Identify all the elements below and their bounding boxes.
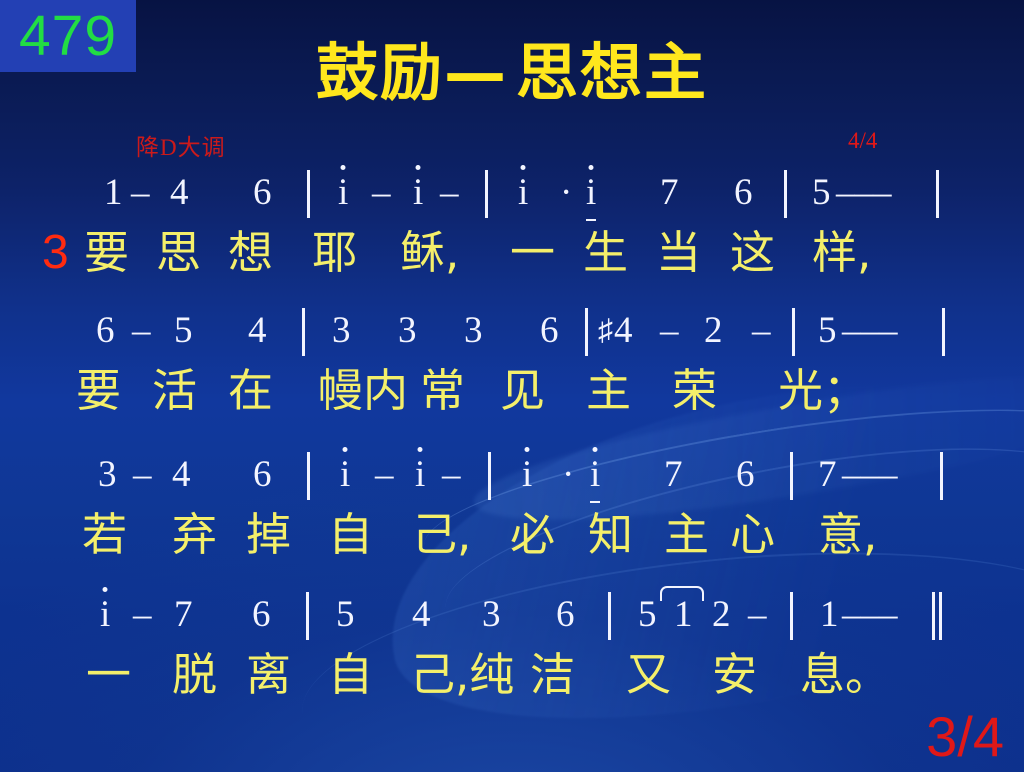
lyric-word: 又 xyxy=(626,642,671,708)
barline xyxy=(608,592,611,640)
lyric-word: 幔内 xyxy=(318,358,408,424)
lyric-word: 己,纯 xyxy=(410,642,514,708)
title-part-2: 思想主 xyxy=(516,36,708,109)
key-signature: 降D大调 xyxy=(136,128,226,162)
lyric-word: 想 xyxy=(228,220,273,286)
lyric-word: 主 xyxy=(586,358,631,424)
lyric-word: 意, xyxy=(818,502,877,568)
barline xyxy=(307,170,310,218)
lyric-word: 生 xyxy=(583,220,628,286)
verse-number: 3 xyxy=(42,220,69,286)
note-dash: – xyxy=(132,306,151,356)
title-part-1: 鼓励 xyxy=(316,36,444,109)
barline xyxy=(784,170,787,218)
lyric-word: 要 xyxy=(84,220,129,286)
barline xyxy=(790,592,793,640)
lyric-word: 心 xyxy=(730,502,775,568)
lyric-word: 己, xyxy=(412,502,471,568)
note-high-octave: i xyxy=(415,450,425,500)
note: 4 xyxy=(172,450,191,500)
lyric-word: 常 xyxy=(420,358,465,424)
note-dash-group: ––– xyxy=(842,306,898,356)
note: 6 xyxy=(540,306,559,356)
note-dash: – xyxy=(752,306,771,356)
note: 5 xyxy=(174,306,193,356)
barline xyxy=(585,308,588,356)
lyric-word: 自 xyxy=(328,642,373,708)
note-dash-group: ––– xyxy=(842,590,898,640)
lyrics-row-4: 一 脱 离 自 己,纯 洁 又 安 息。 xyxy=(0,642,1024,712)
note-dash: – xyxy=(133,590,152,640)
note-dash-group: ––– xyxy=(836,168,892,218)
barline xyxy=(302,308,305,356)
note: 3 xyxy=(98,450,117,500)
note: 5 xyxy=(818,306,837,356)
note: 6 xyxy=(252,590,271,640)
note-dash: – xyxy=(372,168,391,218)
page-title: 鼓励—思想主 xyxy=(0,42,1024,104)
barline xyxy=(942,308,945,356)
note-high-octave: i xyxy=(338,168,348,218)
note: 7 xyxy=(660,168,679,218)
note: 6 xyxy=(96,306,115,356)
note-high-octave-eighth: i xyxy=(590,450,600,503)
note-dash: – xyxy=(660,306,679,356)
note: 5 xyxy=(812,168,831,218)
lyric-word: 见 xyxy=(500,358,545,424)
lyric-word: 一 xyxy=(510,220,555,286)
note: 5 xyxy=(336,590,355,640)
note: 6 xyxy=(734,168,753,218)
lyric-word: 必 xyxy=(510,502,555,568)
music-system-4: i – 7 6 5 4 3 6 5 1 2 – 1 ––– 一 脱 离 自 己,… xyxy=(0,590,1024,712)
note: 1 xyxy=(674,590,693,640)
barline xyxy=(488,452,491,500)
note-dash: – xyxy=(375,450,394,500)
note-dash: – xyxy=(442,450,461,500)
note: 7 xyxy=(174,590,193,640)
note-high-octave: i xyxy=(522,450,532,500)
notation-row-1: 1 – 4 6 i – i – i · i 7 6 5 ––– xyxy=(0,168,1024,220)
note: 3 xyxy=(398,306,417,356)
lyric-word: 主 xyxy=(664,502,709,568)
music-system-3: 3 – 4 6 i – i – i · i 7 6 7 ––– 若 弃 掉 自 … xyxy=(0,450,1024,572)
note: 6 xyxy=(253,168,272,218)
lyric-word: 离 xyxy=(246,642,291,708)
note: 2 xyxy=(704,306,723,356)
barline xyxy=(936,170,939,218)
time-signature: 4/4 xyxy=(848,128,877,154)
note: 7 xyxy=(818,450,837,500)
lyric-word: 当 xyxy=(656,220,701,286)
notation-row-3: 3 – 4 6 i – i – i · i 7 6 7 ––– xyxy=(0,450,1024,502)
sharp-accidental: ♯ xyxy=(598,306,613,356)
note-high-octave: i xyxy=(340,450,350,500)
final-barline xyxy=(932,592,935,640)
barline xyxy=(792,308,795,356)
lyric-word: 光； xyxy=(778,358,868,424)
barline xyxy=(306,592,309,640)
lyric-word: 若 xyxy=(82,502,127,568)
note: 3 xyxy=(482,590,501,640)
lyrics-row-3: 若 弃 掉 自 己, 必 知 主 心 意, xyxy=(0,502,1024,572)
barline xyxy=(485,170,488,218)
lyric-word: 弃 xyxy=(172,502,217,568)
lyric-word: 脱 xyxy=(172,642,217,708)
lyrics-row-1: 3 要 思 想 耶 稣, 一 生 当 这 样, xyxy=(0,220,1024,290)
lyric-word: 思 xyxy=(156,220,201,286)
note: 7 xyxy=(664,450,683,500)
note-dash: – xyxy=(440,168,459,218)
augmentation-dot: · xyxy=(560,168,572,218)
note: 6 xyxy=(253,450,272,500)
note: 3 xyxy=(464,306,483,356)
barline xyxy=(790,452,793,500)
lyric-word: 自 xyxy=(328,502,373,568)
note: 4 xyxy=(170,168,189,218)
lyric-word: 样, xyxy=(812,220,871,286)
lyric-word: 这 xyxy=(730,220,775,286)
lyric-word: 稣, xyxy=(400,220,459,286)
lyric-word: 息。 xyxy=(800,642,890,708)
lyrics-row-2: 要 活 在 幔内 常 见 主 荣 光； xyxy=(0,358,1024,428)
lyric-word: 在 xyxy=(228,358,273,424)
barline xyxy=(307,452,310,500)
augmentation-dot: · xyxy=(562,450,574,500)
lyric-word: 耶 xyxy=(312,220,357,286)
note-high-octave: i xyxy=(518,168,528,218)
note-dash: – xyxy=(133,450,152,500)
lyric-word: 安 xyxy=(712,642,757,708)
note: 4 xyxy=(412,590,431,640)
note: 6 xyxy=(736,450,755,500)
lyric-word: 一 xyxy=(86,642,131,708)
note: 1 xyxy=(104,168,123,218)
lyric-word: 活 xyxy=(152,358,197,424)
note: 5 xyxy=(638,590,657,640)
lyric-word: 荣 xyxy=(672,358,717,424)
barline xyxy=(940,452,943,500)
lyric-word: 要 xyxy=(76,358,121,424)
note: 4 xyxy=(614,306,633,356)
title-dash: — xyxy=(444,36,516,109)
hymn-slide: 479 鼓励—思想主 降D大调 4/4 1 – 4 6 i – i – i · … xyxy=(0,0,1024,772)
note-high-octave: i xyxy=(413,168,423,218)
note: 6 xyxy=(556,590,575,640)
note-dash: – xyxy=(131,168,150,218)
note: 4 xyxy=(248,306,267,356)
lyric-word: 洁 xyxy=(530,642,575,708)
lyric-word: 掉 xyxy=(246,502,291,568)
notation-row-2: 6 – 5 4 3 3 3 6 ♯ 4 – 2 – 5 ––– xyxy=(0,306,1024,358)
note-high-octave: i xyxy=(100,590,110,640)
note-high-octave-eighth: i xyxy=(586,168,596,221)
note: 3 xyxy=(332,306,351,356)
note-dash: – xyxy=(748,590,767,640)
lyric-word: 知 xyxy=(588,502,633,568)
music-system-2: 6 – 5 4 3 3 3 6 ♯ 4 – 2 – 5 ––– 要 活 在 幔内… xyxy=(0,306,1024,428)
music-system-1: 1 – 4 6 i – i – i · i 7 6 5 ––– 3 要 思 想 … xyxy=(0,168,1024,290)
note: 2 xyxy=(712,590,731,640)
note: 1 xyxy=(820,590,839,640)
page-number: 3/4 xyxy=(926,706,1004,768)
notation-row-4: i – 7 6 5 4 3 6 5 1 2 – 1 ––– xyxy=(0,590,1024,642)
note-dash-group: ––– xyxy=(842,450,898,500)
